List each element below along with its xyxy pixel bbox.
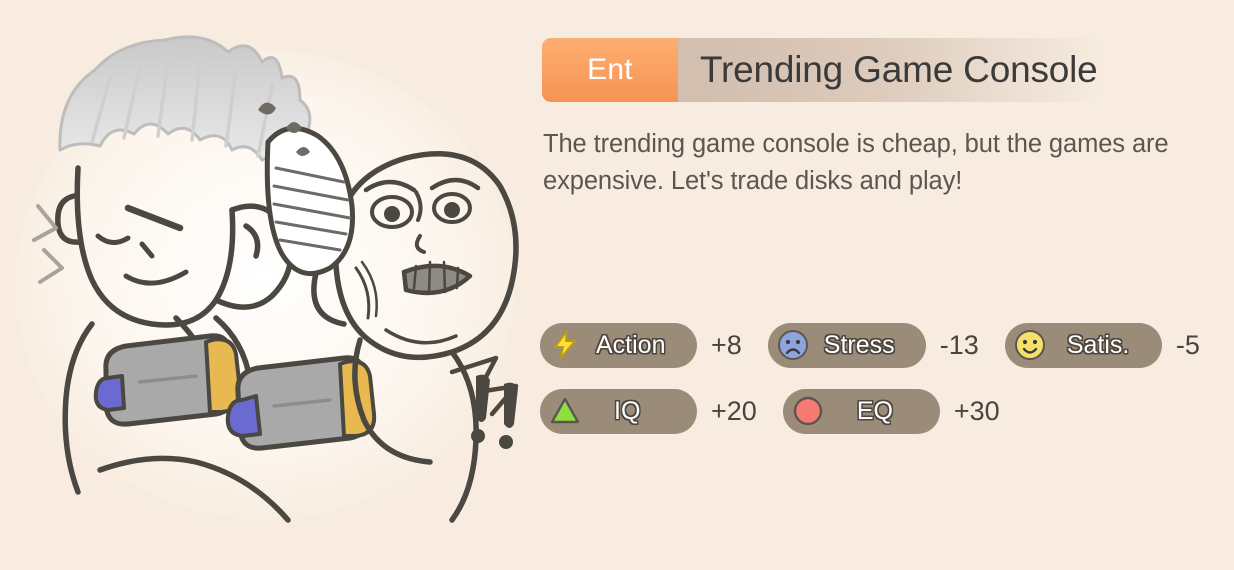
frowning-face-icon bbox=[776, 328, 810, 362]
stat-satisfaction: Satis. -5 bbox=[1005, 323, 1200, 368]
stat-value: -5 bbox=[1176, 330, 1200, 361]
lightning-bolt-icon bbox=[548, 328, 582, 362]
stat-pill: EQ bbox=[783, 389, 940, 434]
illustration-image bbox=[0, 0, 530, 570]
stat-label: Action bbox=[588, 331, 679, 360]
stat-label: EQ bbox=[831, 397, 919, 426]
card-title: Trending Game Console bbox=[678, 38, 1230, 102]
stat-value: +30 bbox=[954, 396, 1000, 427]
stat-effects: Action +8 Str bbox=[540, 318, 1234, 450]
stat-value: -13 bbox=[940, 330, 979, 361]
content-pane: Ent Trending Game Console The trending g… bbox=[530, 0, 1234, 570]
stat-action: Action +8 bbox=[540, 323, 742, 368]
stat-label: Satis. bbox=[1053, 331, 1144, 360]
stat-label: Stress bbox=[816, 331, 909, 360]
stat-value: +8 bbox=[711, 330, 742, 361]
stat-pill: IQ bbox=[540, 389, 697, 434]
stat-stress: Stress -13 bbox=[768, 323, 979, 368]
stat-iq: IQ +20 bbox=[540, 389, 757, 434]
stat-eq: EQ +30 bbox=[783, 389, 1000, 434]
stat-pill: Satis. bbox=[1005, 323, 1162, 368]
stat-pill: Action bbox=[540, 323, 697, 368]
green-triangle-icon bbox=[548, 394, 582, 428]
card-description: The trending game console is cheap, but … bbox=[543, 126, 1233, 200]
stat-row: IQ +20 EQ +30 bbox=[540, 384, 1234, 438]
red-circle-icon bbox=[791, 394, 825, 428]
stat-pill: Stress bbox=[768, 323, 926, 368]
event-card: Ent Trending Game Console The trending g… bbox=[0, 0, 1234, 570]
stat-label: IQ bbox=[588, 397, 666, 426]
illustration-pane bbox=[0, 0, 530, 570]
stat-row: Action +8 Str bbox=[540, 318, 1234, 372]
stat-value: +20 bbox=[711, 396, 757, 427]
category-badge: Ent bbox=[542, 38, 678, 102]
title-bar: Ent Trending Game Console bbox=[542, 38, 1230, 102]
smiling-face-icon bbox=[1013, 328, 1047, 362]
